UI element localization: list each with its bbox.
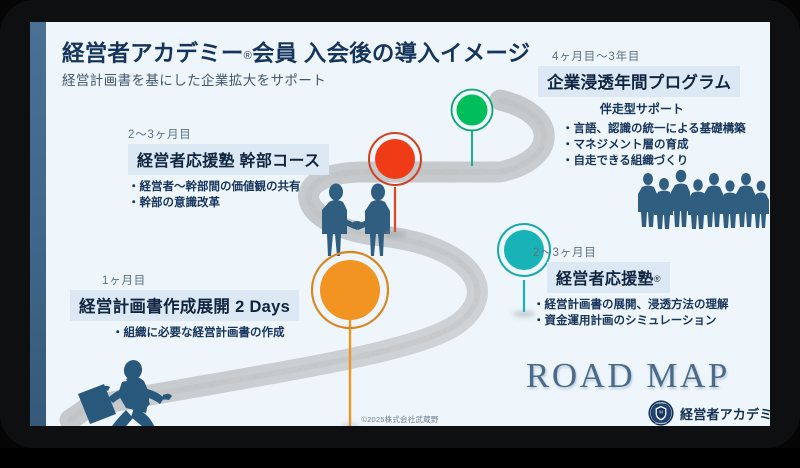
screenshot-root: 経営者アカデミー®会員 入会後の導入イメージ 経営計画書を基にした企業拡大をサポ… bbox=[0, 0, 800, 468]
step-1-bullet-1: ・組織に必要な経営計画書の作成 bbox=[112, 325, 299, 341]
registered-mark-icon: ® bbox=[244, 50, 252, 62]
step-2-bullet-2: ・幹部の意識改革 bbox=[128, 195, 329, 211]
slide-canvas: 経営者アカデミー®会員 入会後の導入イメージ 経営計画書を基にした企業拡大をサポ… bbox=[30, 22, 770, 426]
svg-text:M: M bbox=[659, 409, 663, 414]
page-title-brand: 経営者アカデミー bbox=[62, 41, 244, 66]
step-2-bullets: ・経営者〜幹部間の価値観の共有 ・幹部の意識改革 bbox=[128, 179, 329, 211]
step-1-period: 1ヶ月目 bbox=[102, 272, 299, 288]
page-subtitle: 経営計画書を基にした企業拡大をサポート bbox=[62, 69, 326, 89]
step-1-bullets: ・組織に必要な経営計画書の作成 bbox=[112, 325, 299, 341]
step-3-bullet-1: ・経営計画書の展開、浸透方法の理解 bbox=[533, 297, 729, 313]
step-2-period: 2〜3ヶ月目 bbox=[128, 126, 329, 142]
device-frame: 経営者アカデミー®会員 入会後の導入イメージ 経営計画書を基にした企業拡大をサポ… bbox=[0, 0, 800, 448]
step-4-bullet-1: ・言語、認識の統一による基礎構築 bbox=[562, 121, 746, 137]
callout-step-2: 2〜3ヶ月目 経営者応援塾 幹部コース ・経営者〜幹部間の価値観の共有 ・幹部の… bbox=[128, 126, 329, 211]
pin-step-4[interactable] bbox=[452, 90, 493, 167]
academy-emblem-icon: M KEIEISHA MUSASHINO bbox=[648, 400, 674, 426]
step-3-bullets: ・経営計画書の展開、浸透方法の理解 ・資金運用計画のシミュレーション bbox=[533, 297, 729, 329]
registered-mark-icon: ® bbox=[654, 274, 661, 284]
page-title-tail: 会員 入会後の導入イメージ bbox=[252, 41, 530, 66]
page-title: 経営者アカデミー®会員 入会後の導入イメージ bbox=[62, 36, 530, 68]
callout-step-1: 1ヶ月目 経営計画書作成展開 2 Days ・組織に必要な経営計画書の作成 bbox=[70, 272, 299, 341]
step-4-subhead: 伴走型サポート bbox=[538, 100, 746, 117]
callout-step-3: 2〜3ヶ月目 経営者応援塾® ・経営計画書の展開、浸透方法の理解 ・資金運用計画… bbox=[533, 244, 729, 329]
callout-step-4: 4ヶ月目〜3年目 企業浸透年間プログラム 伴走型サポート ・言語、認識の統一によ… bbox=[538, 48, 746, 169]
step-4-bullet-3: ・自走できる組織づくり bbox=[562, 153, 746, 169]
team-group-illustration bbox=[638, 170, 769, 229]
step-4-bullets: ・言語、認識の統一による基礎構築 ・マネジメント層の育成 ・自走できる組織づくり bbox=[562, 121, 746, 169]
brand-name: 経営者アカデミー® bbox=[680, 404, 770, 423]
roadmap-watermark: ROAD MAP bbox=[526, 356, 730, 396]
brand-logo: M KEIEISHA MUSASHINO 経営者アカデミー® bbox=[648, 400, 770, 426]
step-3-bullet-2: ・資金運用計画のシミュレーション bbox=[533, 313, 729, 329]
step-4-period: 4ヶ月目〜3年目 bbox=[552, 48, 746, 64]
step-2-bullet-1: ・経営者〜幹部間の価値観の共有 bbox=[128, 179, 329, 195]
step-4-title: 企業浸透年間プログラム bbox=[538, 66, 740, 97]
frame-bottom-bar bbox=[0, 448, 800, 468]
step-2-title: 経営者応援塾 幹部コース bbox=[128, 144, 329, 175]
step-3-period: 2〜3ヶ月目 bbox=[533, 244, 729, 260]
handshake-illustration bbox=[322, 184, 390, 257]
step-3-title: 経営者応援塾® bbox=[547, 262, 670, 293]
pin-step-1[interactable] bbox=[312, 252, 388, 426]
step-4-bullet-2: ・マネジメント層の育成 bbox=[562, 137, 746, 153]
step-1-title: 経営計画書作成展開 2 Days bbox=[70, 290, 299, 321]
